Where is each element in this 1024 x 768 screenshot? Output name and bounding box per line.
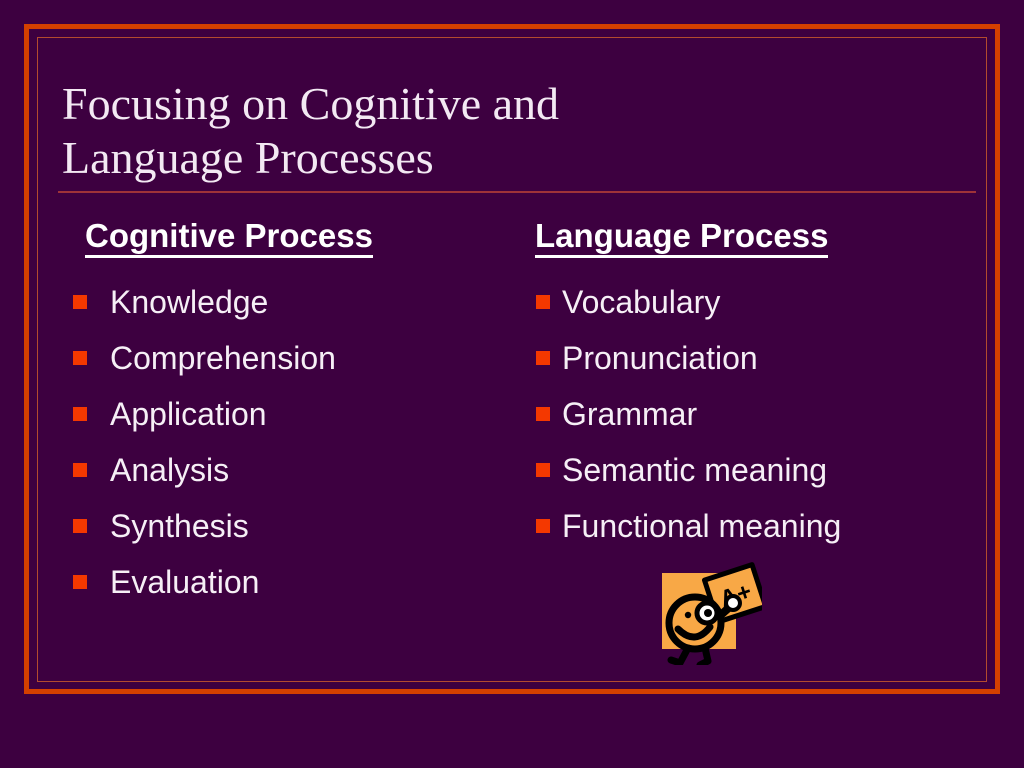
square-bullet-icon [73, 463, 87, 477]
list-item-label: Grammar [562, 396, 697, 432]
list-item: Knowledge [60, 274, 510, 330]
column-cognitive-process: Cognitive Process Knowledge Comprehensio… [60, 218, 510, 610]
slide-canvas: Focusing on Cognitive and Language Proce… [0, 0, 1024, 768]
column-language-process: Language Process Vocabulary Pronunciatio… [510, 218, 960, 554]
square-bullet-icon [73, 519, 87, 533]
list-item-label: Pronunciation [562, 340, 758, 376]
title-divider [58, 191, 976, 193]
list-item: Pronunciation [510, 330, 960, 386]
column-header-cognitive-process: Cognitive Process [85, 218, 373, 258]
square-bullet-icon [73, 351, 87, 365]
list-item: Application [60, 386, 510, 442]
list-item-label: Comprehension [110, 340, 336, 376]
list-item-label: Semantic meaning [562, 452, 827, 488]
list-item: Comprehension [60, 330, 510, 386]
list-item-label: Knowledge [110, 284, 268, 320]
bullet-list-language-process: Vocabulary Pronunciation Grammar Semanti… [510, 274, 960, 554]
list-item-label: Synthesis [110, 508, 249, 544]
square-bullet-icon [536, 351, 550, 365]
bullet-list-cognitive-process: Knowledge Comprehension Application Anal… [60, 274, 510, 610]
list-item: Analysis [60, 442, 510, 498]
student-a-plus-clipart-icon: A+ [650, 553, 762, 665]
square-bullet-icon [73, 575, 87, 589]
list-item: Grammar [510, 386, 960, 442]
square-bullet-icon [73, 407, 87, 421]
square-bullet-icon [536, 463, 550, 477]
list-item: Semantic meaning [510, 442, 960, 498]
list-item-label: Functional meaning [562, 508, 841, 544]
list-item: Functional meaning [510, 498, 960, 554]
list-item: Synthesis [60, 498, 510, 554]
list-item-label: Vocabulary [562, 284, 720, 320]
square-bullet-icon [536, 519, 550, 533]
list-item: Vocabulary [510, 274, 960, 330]
column-header-language-process: Language Process [535, 218, 828, 258]
square-bullet-icon [536, 295, 550, 309]
slide-title: Focusing on Cognitive and Language Proce… [62, 77, 942, 185]
list-item-label: Analysis [110, 452, 229, 488]
list-item: Evaluation [60, 554, 510, 610]
square-bullet-icon [536, 407, 550, 421]
list-item-label: Application [110, 396, 267, 432]
square-bullet-icon [73, 295, 87, 309]
list-item-label: Evaluation [110, 564, 259, 600]
